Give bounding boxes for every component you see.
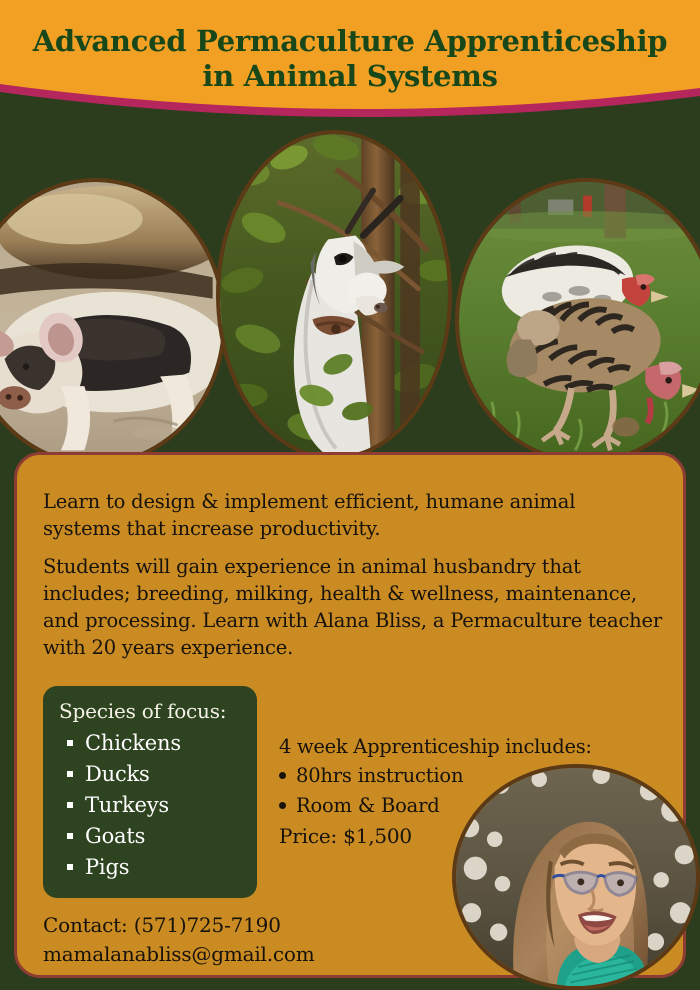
contact-block: Contact: (571)725-7190 mamalanabliss@gma… bbox=[43, 911, 314, 969]
pig-photo-image bbox=[0, 182, 222, 462]
turkey-photo-image bbox=[459, 182, 700, 460]
species-label: Ducks bbox=[85, 762, 150, 786]
poster-root: Advanced Permaculture Apprenticeship in … bbox=[0, 0, 700, 990]
turkey-photo bbox=[455, 178, 700, 464]
species-label: Chickens bbox=[85, 731, 181, 755]
species-label: Pigs bbox=[85, 855, 129, 879]
pig-photo bbox=[0, 178, 226, 466]
species-label: Turkeys bbox=[85, 793, 169, 817]
square-bullet-icon bbox=[67, 864, 73, 870]
list-item: Turkeys bbox=[67, 790, 181, 821]
round-bullet-icon bbox=[279, 772, 286, 779]
list-item: Pigs bbox=[67, 852, 181, 883]
description-paragraph: Students will gain experience in animal … bbox=[43, 553, 663, 661]
title-line-1: Advanced Permaculture Apprenticeship bbox=[0, 24, 700, 59]
species-of-focus-box: Species of focus: Chickens Ducks Turkeys… bbox=[43, 686, 257, 898]
contact-phone[interactable]: Contact: (571)725-7190 bbox=[43, 911, 314, 940]
round-bullet-icon bbox=[279, 802, 286, 809]
details-heading: 4 week Apprenticeship includes: bbox=[279, 733, 679, 761]
title-line-2: in Animal Systems bbox=[0, 59, 700, 94]
square-bullet-icon bbox=[67, 771, 73, 777]
instructor-portrait bbox=[452, 764, 700, 990]
page-title: Advanced Permaculture Apprenticeship in … bbox=[0, 24, 700, 94]
square-bullet-icon bbox=[67, 740, 73, 746]
square-bullet-icon bbox=[67, 802, 73, 808]
list-item: Goats bbox=[67, 821, 181, 852]
intro-paragraph: Learn to design & implement efficient, h… bbox=[43, 488, 643, 542]
square-bullet-icon bbox=[67, 833, 73, 839]
list-item: Chickens bbox=[67, 728, 181, 759]
contact-email[interactable]: mamalanabliss@gmail.com bbox=[43, 940, 314, 969]
detail-label: 80hrs instruction bbox=[296, 764, 463, 787]
species-label: Goats bbox=[85, 824, 145, 848]
species-list: Chickens Ducks Turkeys Goats Pigs bbox=[67, 728, 181, 883]
goat-photo-image bbox=[220, 134, 448, 456]
list-item: Ducks bbox=[67, 759, 181, 790]
goat-photo bbox=[216, 130, 452, 460]
species-heading: Species of focus: bbox=[59, 699, 226, 723]
detail-label: Room & Board bbox=[296, 794, 440, 817]
